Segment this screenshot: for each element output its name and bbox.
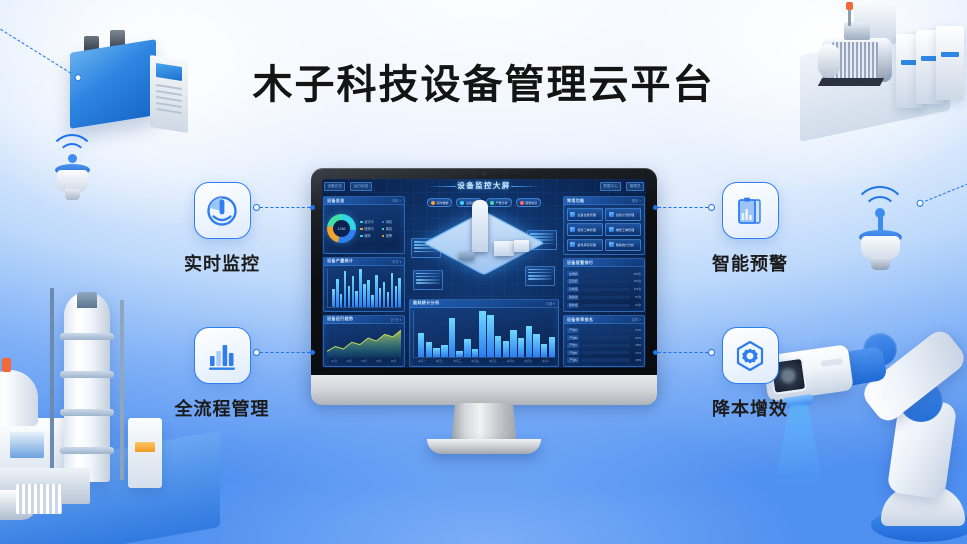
connector-monitor-to-alert xyxy=(653,207,715,208)
scene-chip-label: 报警信息 xyxy=(525,201,537,205)
connector-ring xyxy=(708,204,715,211)
status-dot-icon xyxy=(431,201,435,205)
panel-body: 车间一车间二车间三车间四车间五车间六车间七车间八 xyxy=(410,308,558,366)
bar-7 xyxy=(359,269,362,307)
panel-body: 产线A94%产线B82%产线C68%产线D47%产线E36% xyxy=(564,324,644,366)
bar-0 xyxy=(332,289,335,307)
bar-1 xyxy=(426,342,432,357)
progress-value: 152次 xyxy=(632,279,641,283)
progress-row-0: 注塑机186次 xyxy=(567,271,641,276)
bar-11 xyxy=(375,275,378,307)
progress-track xyxy=(581,288,630,291)
chart-icon xyxy=(609,242,614,247)
scene-chip-3[interactable]: 报警信息 xyxy=(516,198,542,207)
panel-header: 设备运行趋势 近7日 ▾ xyxy=(324,316,404,324)
topbar-item-1[interactable]: 运行状态 xyxy=(350,182,371,191)
legend-item-1: 待机 xyxy=(382,219,402,224)
connector-dash xyxy=(658,352,708,353)
efficiency-list: 产线A94%产线B82%产线C68%产线D47%产线E36% xyxy=(567,327,641,363)
quick-action-label: 维修工单管理 xyxy=(616,227,635,232)
tool-icon xyxy=(609,227,614,232)
progress-row-1: 产线B82% xyxy=(567,335,641,340)
dashboard-title: 设备监控大屏 xyxy=(457,180,510,191)
progress-track xyxy=(581,272,630,275)
dashboard-right-column: 常用功能 更多 > 设备台账管理巡检计划管理保养工单管理维修工单管理备件库存管理… xyxy=(563,196,645,367)
panel-efficiency: 设备效率排名 实时 > 产线A94%产线B82%产线C68%产线D47%产线E3… xyxy=(563,315,645,367)
progress-track xyxy=(581,296,630,299)
panel-output-stats: 设备产量统计 本月 ▾ xyxy=(323,257,405,312)
bar-14 xyxy=(387,292,390,306)
progress-row-2: 产线C68% xyxy=(567,343,641,348)
feature-label: 全流程管理 xyxy=(170,395,274,421)
trend-x-labels: 01月02月03月04月05月 xyxy=(327,359,401,363)
panel-more-link[interactable]: 本月 ▾ xyxy=(392,259,401,264)
bar-3 xyxy=(441,345,447,357)
axis-label-3: 车间四 xyxy=(471,359,479,363)
progress-value: 82% xyxy=(632,336,641,340)
progress-value: 94% xyxy=(632,328,641,332)
bar-13 xyxy=(383,282,386,306)
axis-label-1: 02月 xyxy=(346,359,351,363)
progress-value: 68% xyxy=(632,343,641,347)
bar-10 xyxy=(495,336,501,357)
scene-chip-label: 产能分析 xyxy=(496,201,508,205)
bar-5 xyxy=(456,351,462,357)
desktop-monitor: 设备总览 运行状态 设备监控大屏 数据中心 管理员 设备总览 xyxy=(311,168,657,413)
legend-item-3: 离线 xyxy=(382,226,402,231)
illustration-right-wifi-sensor xyxy=(845,186,923,274)
legend-item-0: 运行中 xyxy=(360,219,380,224)
progress-row-3: 输送线87次 xyxy=(567,295,641,300)
feature-cost-reduction[interactable]: 降本增效 xyxy=(698,327,802,421)
progress-row-4: 产线E36% xyxy=(567,357,641,362)
progress-track xyxy=(581,358,630,361)
panel-more-link[interactable]: 更多 > xyxy=(632,198,641,203)
connector-dash xyxy=(260,352,310,353)
bar-17 xyxy=(398,278,401,307)
panel-title: 设备总览 xyxy=(327,198,345,204)
progress-label: 输送线 xyxy=(567,295,580,300)
clipboard-report-icon xyxy=(722,182,779,239)
progress-label: 产线B xyxy=(567,335,580,340)
topbar-item-0[interactable]: 设备总览 xyxy=(324,182,345,191)
bar-8 xyxy=(479,311,485,357)
progress-row-1: 空压机152次 xyxy=(567,279,641,284)
connector-dash xyxy=(260,207,310,208)
panel-more-link[interactable]: 月度 ▾ xyxy=(546,301,555,306)
dashboard-body: 设备总览 详情 > 1286 运行中待机检修中离线故障报警 xyxy=(322,194,646,368)
axis-label-7: 车间八 xyxy=(542,359,550,363)
donut-legend: 运行中待机检修中离线故障报警 xyxy=(360,219,401,238)
quick-action-label: 能耗统计分析 xyxy=(616,242,635,247)
progress-row-3: 产线D47% xyxy=(567,350,641,355)
bar-15 xyxy=(533,334,539,357)
progress-track xyxy=(581,280,630,283)
legend-item-2: 检修中 xyxy=(360,226,380,231)
connector-process-to-monitor xyxy=(253,352,315,353)
feature-label: 智能预警 xyxy=(698,250,802,276)
progress-row-4: 锅炉组61次 xyxy=(567,303,641,308)
energy-x-labels: 车间一车间二车间三车间四车间五车间六车间七车间八 xyxy=(413,359,555,363)
connector-dot xyxy=(310,350,315,355)
panel-title: 设备效率排名 xyxy=(567,317,593,323)
progress-label: 注塑机 xyxy=(567,271,580,276)
bar-4 xyxy=(348,286,351,306)
connector-ring xyxy=(708,349,715,356)
bar-8 xyxy=(363,284,366,307)
scene-building-2 xyxy=(514,240,529,252)
topbar-item-2[interactable]: 数据中心 xyxy=(600,182,621,191)
progress-label: 冷却塔 xyxy=(567,287,580,292)
progress-row-0: 产线A94% xyxy=(567,328,641,333)
wrench-icon xyxy=(570,227,575,232)
progress-label: 产线E xyxy=(567,357,580,362)
bar-16 xyxy=(541,344,547,357)
axis-label-5: 车间六 xyxy=(507,359,515,363)
quick-action-1[interactable]: 巡检计划管理 xyxy=(605,208,641,221)
connector-monitor-to-cost xyxy=(653,352,715,353)
feature-realtime-monitoring[interactable]: 实时监控 xyxy=(170,182,274,276)
bar-11 xyxy=(503,341,509,357)
factory-3d-scene: 实时数据设备状态产能分析报警信息 xyxy=(409,196,559,296)
panel-title: 设备产量统计 xyxy=(327,258,353,264)
axis-label-4: 车间五 xyxy=(489,359,497,363)
panel-quick-actions: 常用功能 更多 > 设备台账管理巡检计划管理保养工单管理维修工单管理备件库存管理… xyxy=(563,196,645,255)
panel-header: 设备总览 详情 > xyxy=(324,197,404,205)
status-dot-icon xyxy=(460,201,464,205)
panel-header: 设备效率排名 实时 > xyxy=(564,316,644,324)
legend-item-5: 报警 xyxy=(382,233,402,238)
progress-track xyxy=(581,329,630,332)
dashboard-topbar-left: 设备总览 运行状态 xyxy=(324,182,372,191)
bar-9 xyxy=(367,280,370,306)
progress-label: 产线D xyxy=(567,350,580,355)
bar-1 xyxy=(336,279,339,307)
scene-building-3 xyxy=(459,252,474,260)
panel-body: 注塑机186次空压机152次冷却塔118次输送线87次锅炉组61次 xyxy=(564,267,644,311)
bar-13 xyxy=(518,338,524,357)
bar-4 xyxy=(449,318,455,357)
bar-5 xyxy=(352,276,355,306)
progress-label: 锅炉组 xyxy=(567,303,580,308)
connector-dash xyxy=(658,207,708,208)
panel-title: 设备报警排行 xyxy=(567,260,593,266)
scene-building-1 xyxy=(494,241,514,256)
connector-ring xyxy=(253,204,260,211)
bar-9 xyxy=(487,315,493,357)
calendar-icon xyxy=(609,212,614,217)
bar-2 xyxy=(433,348,439,357)
axis-label-1: 车间二 xyxy=(436,359,444,363)
alarm-rank-list: 注塑机186次空压机152次冷却塔118次输送线87次锅炉组61次 xyxy=(567,270,641,308)
panel-title: 设备运行趋势 xyxy=(327,316,353,322)
bar-3 xyxy=(344,271,347,306)
panel-device-status: 设备总览 详情 > 1286 运行中待机检修中离线故障报警 xyxy=(323,196,405,254)
hexagon-gear-icon xyxy=(722,327,779,384)
panel-title: 常用功能 xyxy=(567,198,585,204)
quick-action-2[interactable]: 保养工单管理 xyxy=(567,223,603,236)
bar-16 xyxy=(395,286,398,307)
quick-action-grid: 设备台账管理巡检计划管理保养工单管理维修工单管理备件库存管理能耗统计分析 xyxy=(567,208,641,251)
progress-label: 产线C xyxy=(567,343,580,348)
quick-action-4[interactable]: 备件库存管理 xyxy=(567,239,603,252)
scene-tower xyxy=(472,200,488,252)
panel-header: 常用功能 更多 > xyxy=(564,197,644,205)
axis-label-2: 03月 xyxy=(361,359,366,363)
panel-more-link[interactable]: 详情 > xyxy=(392,198,401,203)
scene-chip-0[interactable]: 实时数据 xyxy=(427,198,453,207)
axis-label-0: 车间一 xyxy=(418,359,426,363)
axis-label-2: 车间三 xyxy=(454,359,462,363)
progress-track xyxy=(581,304,630,307)
bar-14 xyxy=(526,326,532,357)
quick-action-label: 备件库存管理 xyxy=(577,242,596,247)
legend-item-4: 故障 xyxy=(360,233,380,238)
output-bar-chart xyxy=(327,269,401,308)
dashboard-left-column: 设备总览 详情 > 1286 运行中待机检修中离线故障报警 xyxy=(323,196,405,367)
progress-value: 118次 xyxy=(632,287,641,291)
promo-banner: 木子科技设备管理云平台 xyxy=(0,0,967,544)
panel-header: 设备报警排行 xyxy=(564,259,644,267)
connector-realtime-to-monitor xyxy=(253,207,315,208)
dashboard-topbar-right: 数据中心 管理员 xyxy=(600,182,644,191)
illustration-top-left-wifi-sensor xyxy=(40,132,110,210)
quick-action-label: 保养工单管理 xyxy=(577,227,596,232)
quick-action-3[interactable]: 维修工单管理 xyxy=(605,223,641,236)
bar-10 xyxy=(371,295,374,307)
lock-icon xyxy=(570,212,575,217)
quick-action-5[interactable]: 能耗统计分析 xyxy=(605,239,641,252)
panel-body: 01月02月03月04月05月 xyxy=(324,324,404,366)
axis-label-4: 05月 xyxy=(391,359,396,363)
bar-0 xyxy=(418,333,424,357)
quick-action-label: 巡检计划管理 xyxy=(616,212,635,217)
panel-body: 设备台账管理巡检计划管理保养工单管理维修工单管理备件库存管理能耗统计分析 xyxy=(564,205,644,254)
axis-label-3: 04月 xyxy=(376,359,381,363)
panel-body xyxy=(324,266,404,311)
bar-chart-icon xyxy=(194,327,251,384)
feature-full-process-management[interactable]: 全流程管理 xyxy=(170,327,274,421)
panel-more-link[interactable]: 实时 > xyxy=(632,317,641,322)
axis-label-6: 车间七 xyxy=(524,359,532,363)
connector-dot xyxy=(310,205,315,210)
panel-alarm-rank: 设备报警排行 注塑机186次空压机152次冷却塔118次输送线87次锅炉组61次 xyxy=(563,258,645,312)
panel-energy: 能耗统计分析 月度 ▾ 车间一车间二车间三车间四车间五车间六车间七车间八 xyxy=(409,299,559,367)
status-dot-icon xyxy=(490,201,494,205)
illustration-robot-arm xyxy=(777,278,967,544)
connector-line-right-sensor xyxy=(917,181,967,206)
progress-track xyxy=(581,351,630,354)
panel-header: 能耗统计分析 月度 ▾ xyxy=(410,300,558,308)
progress-label: 空压机 xyxy=(567,279,580,284)
panel-more-link[interactable]: 近7日 ▾ xyxy=(390,317,401,322)
progress-value: 47% xyxy=(632,351,641,355)
status-dot-icon xyxy=(520,201,524,205)
progress-label: 产线A xyxy=(567,328,580,333)
bar-12 xyxy=(510,330,516,357)
monitor-stand-base xyxy=(427,439,541,454)
connector-ring xyxy=(253,349,260,356)
panel-body: 1286 运行中待机检修中离线故障报警 xyxy=(324,205,404,253)
panel-title: 能耗统计分析 xyxy=(413,300,439,306)
panel-trend: 设备运行趋势 近7日 ▾ xyxy=(323,315,405,367)
donut-center-value: 1286 xyxy=(333,220,350,237)
progress-track xyxy=(581,336,630,339)
dashboard-center-column: 实时数据设备状态产能分析报警信息 xyxy=(409,196,559,367)
trend-area-chart xyxy=(327,327,401,358)
feature-label: 实时监控 xyxy=(170,250,274,276)
gauge-monitor-icon xyxy=(194,182,251,239)
scene-chip-label: 实时数据 xyxy=(436,201,448,205)
scene-chip-2[interactable]: 产能分析 xyxy=(486,198,512,207)
dashboard-screen: 设备总览 运行状态 设备监控大屏 数据中心 管理员 设备总览 xyxy=(322,179,646,368)
bar-12 xyxy=(379,288,382,307)
progress-value: 36% xyxy=(632,358,641,362)
quick-action-0[interactable]: 设备台账管理 xyxy=(567,208,603,221)
scene-info-tag xyxy=(525,266,555,286)
bar-6 xyxy=(464,339,470,357)
feature-label: 降本增效 xyxy=(698,395,802,421)
progress-value: 87次 xyxy=(632,295,641,299)
monitor-chin xyxy=(311,375,657,405)
feature-intelligent-alert[interactable]: 智能预警 xyxy=(698,182,802,276)
progress-value: 61次 xyxy=(632,303,641,307)
topbar-item-3[interactable]: 管理员 xyxy=(626,182,644,191)
progress-row-2: 冷却塔118次 xyxy=(567,287,641,292)
donut-chart: 1286 xyxy=(327,214,356,243)
box-icon xyxy=(570,242,575,247)
dashboard-topbar: 设备总览 运行状态 设备监控大屏 数据中心 管理员 xyxy=(322,179,646,194)
bar-6 xyxy=(355,291,358,306)
axis-label-0: 01月 xyxy=(332,359,337,363)
progress-track xyxy=(581,344,630,347)
bar-17 xyxy=(549,337,555,357)
progress-value: 186次 xyxy=(632,272,641,276)
webcam-icon xyxy=(482,172,486,176)
scene-info-tag xyxy=(413,270,443,290)
bar-2 xyxy=(340,294,343,307)
bar-15 xyxy=(391,273,394,307)
bar-7 xyxy=(472,349,478,357)
panel-header: 设备产量统计 本月 ▾ xyxy=(324,258,404,266)
monitor-bezel: 设备总览 运行状态 设备监控大屏 数据中心 管理员 设备总览 xyxy=(311,168,657,386)
illustration-top-right-machine xyxy=(796,0,961,136)
energy-bar-chart xyxy=(413,311,555,358)
quick-action-label: 设备台账管理 xyxy=(577,212,596,217)
